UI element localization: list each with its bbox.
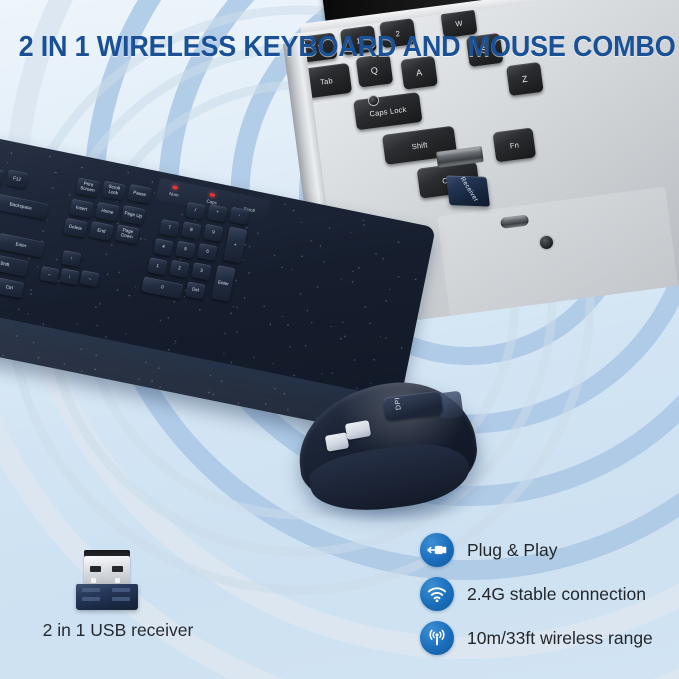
indicator-label-num: Num — [169, 191, 179, 198]
receiver-slot-left — [90, 566, 101, 572]
wifi-signal-icon — [420, 577, 454, 611]
laptop-key-fn[interactable]: Fn — [493, 127, 537, 162]
receiver-notch-c — [112, 588, 130, 592]
page-title: 2 IN 1 WIRELESS KEYBOARD AND MOUSE COMBO — [0, 31, 675, 64]
feature-item-stable-connection: 2.4G stable connection — [420, 577, 646, 611]
title-banner: 2 IN 1 WIRELESS KEYBOARD AND MOUSE COMBO — [0, 24, 679, 70]
usb-plug-icon — [420, 533, 454, 567]
broadcast-tower-icon — [420, 621, 454, 655]
kb-numpad-2[interactable]: 2 — [169, 260, 190, 278]
feature-label-wireless-range: 10m/33ft wireless range — [467, 628, 653, 649]
receiver-slot-right — [112, 566, 123, 572]
receiver-notch-a — [82, 588, 100, 592]
feature-item-plug-and-play: Plug & Play — [420, 533, 557, 567]
usb-receiver-product-shot — [72, 548, 144, 610]
mouse-dpi-label: DPI — [394, 397, 403, 411]
receiver-plastic-body — [76, 584, 138, 610]
receiver-pin-left — [91, 578, 96, 583]
receiver-pin-right — [115, 578, 120, 583]
receiver-notch-d — [112, 597, 130, 601]
led-num-lock — [172, 185, 177, 189]
usb-receiver-caption: 2 in 1 USB receiver — [18, 620, 218, 641]
feature-item-wireless-range: 10m/33ft wireless range — [420, 621, 653, 655]
laptop-key-caps-lock[interactable]: Caps Lock — [353, 92, 422, 130]
led-caps-lock — [210, 193, 215, 197]
feature-label-plug-and-play: Plug & Play — [467, 540, 557, 561]
headphone-jack — [540, 236, 553, 249]
wireless-mouse: DPI — [288, 372, 488, 532]
product-marketing-image: ` 1 2 W Tab Q A S Z Caps Lock Shift Ctrl… — [0, 0, 679, 679]
laptop-screw-dot — [369, 96, 378, 105]
receiver-notch-b — [82, 597, 100, 601]
feature-label-stable-connection: 2.4G stable connection — [467, 584, 646, 605]
